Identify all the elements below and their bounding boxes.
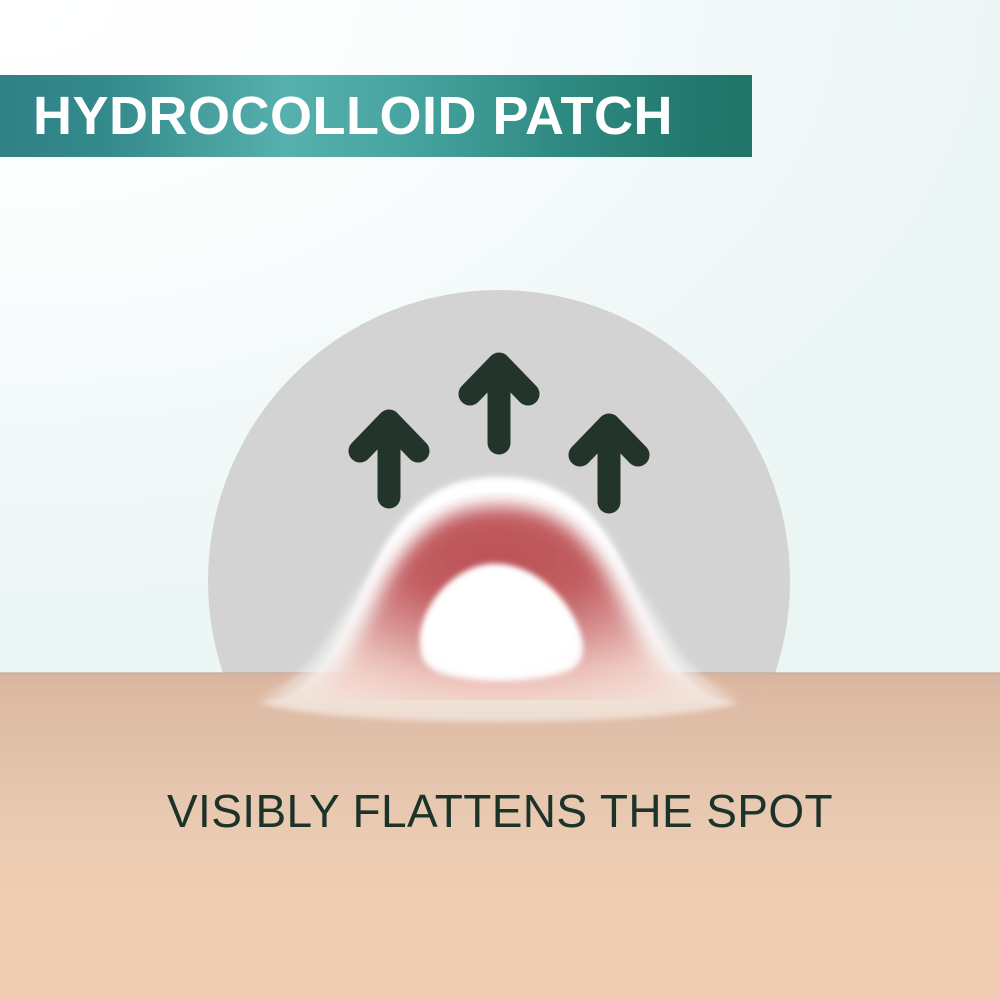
caption-text: VISIBLY FLATTENS THE SPOT — [0, 788, 1000, 834]
title-banner: HYDROCOLLOID PATCH — [0, 75, 752, 157]
illustration-canvas: HYDROCOLLOID PATCH VISIBLY FLATTENS THE … — [0, 0, 1000, 1000]
banner-title-text: HYDROCOLLOID PATCH — [33, 89, 673, 143]
